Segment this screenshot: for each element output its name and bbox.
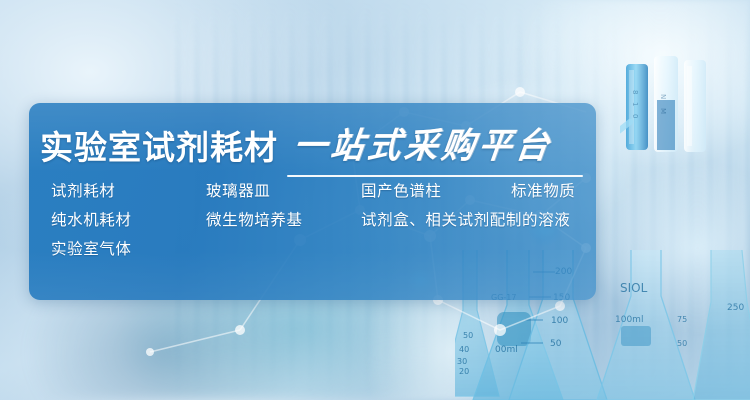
category-list: 试剂耗材 玻璃器皿 国产色谱柱 标准物质 纯水机耗材 微生物培养基 试剂盒、相关… <box>40 179 588 266</box>
title-underline <box>287 175 583 177</box>
title-brush-text: 一站式采购平台 <box>291 117 556 168</box>
category-item[interactable]: 微生物培养基 <box>206 208 303 230</box>
category-item[interactable]: 试剂盒、相关试剂配制的溶液 <box>361 208 570 230</box>
category-row: 实验室气体 <box>40 237 588 266</box>
category-item[interactable]: 试剂耗材 <box>51 179 115 201</box>
category-item[interactable]: 国产色谱柱 <box>361 179 442 201</box>
banner-title: 实验室试剂耗材 一站式采购平台 <box>40 119 596 171</box>
title-brush-wrapper: 一站式采购平台 <box>291 120 550 170</box>
category-item[interactable]: 玻璃器皿 <box>206 179 270 201</box>
category-item[interactable]: 纯水机耗材 <box>51 208 132 230</box>
category-item[interactable]: 实验室气体 <box>51 237 132 259</box>
lab-reagent-banner: 8 1 0 N M <box>0 0 750 400</box>
category-row: 纯水机耗材 微生物培养基 试剂盒、相关试剂配制的溶液 <box>40 208 588 237</box>
category-row: 试剂耗材 玻璃器皿 国产色谱柱 标准物质 <box>40 179 588 208</box>
promo-panel: 实验室试剂耗材 一站式采购平台 试剂耗材 玻璃器皿 国产色谱柱 标准物质 纯水机… <box>29 103 596 300</box>
category-item[interactable]: 标准物质 <box>511 179 575 201</box>
title-main-text: 实验室试剂耗材 <box>40 121 278 169</box>
